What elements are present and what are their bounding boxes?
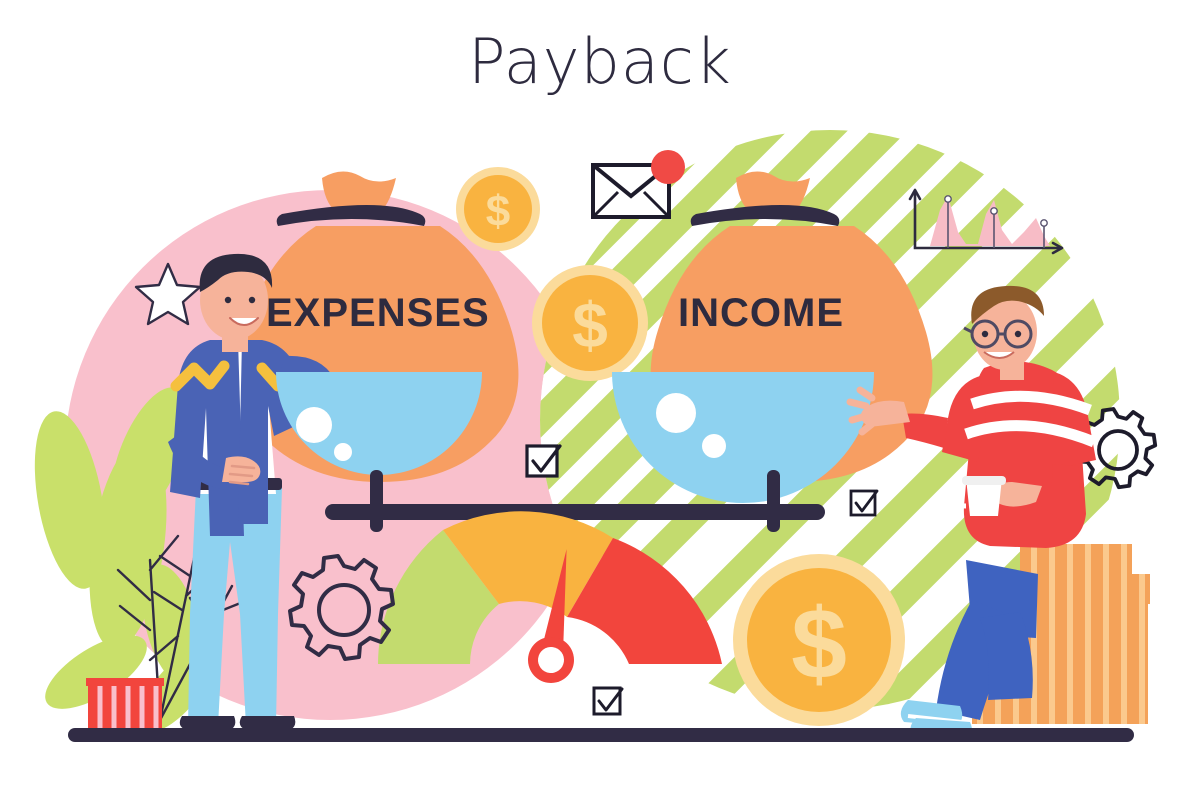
illustration-canvas: $ $ $: [0, 0, 1200, 792]
ground-line: [68, 728, 1134, 742]
checkbox-icon-2: [851, 491, 877, 515]
checkbox-icon-3: [594, 688, 622, 714]
checkbox-icon-1: [527, 446, 560, 476]
coin-small: $: [456, 167, 540, 251]
svg-text:$: $: [486, 187, 510, 236]
plant-pot: [86, 678, 164, 730]
coin-medium: $: [532, 265, 648, 381]
page-title: Payback: [0, 28, 1200, 96]
svg-text:$: $: [572, 289, 608, 361]
bag-label-expenses: EXPENSES: [266, 291, 490, 336]
svg-text:$: $: [791, 588, 847, 700]
notification-badge-icon: [651, 150, 685, 184]
payback-illustration: $ $ $: [0, 0, 1200, 792]
coin-large: $: [733, 554, 905, 726]
bag-label-income: INCOME: [678, 291, 844, 336]
